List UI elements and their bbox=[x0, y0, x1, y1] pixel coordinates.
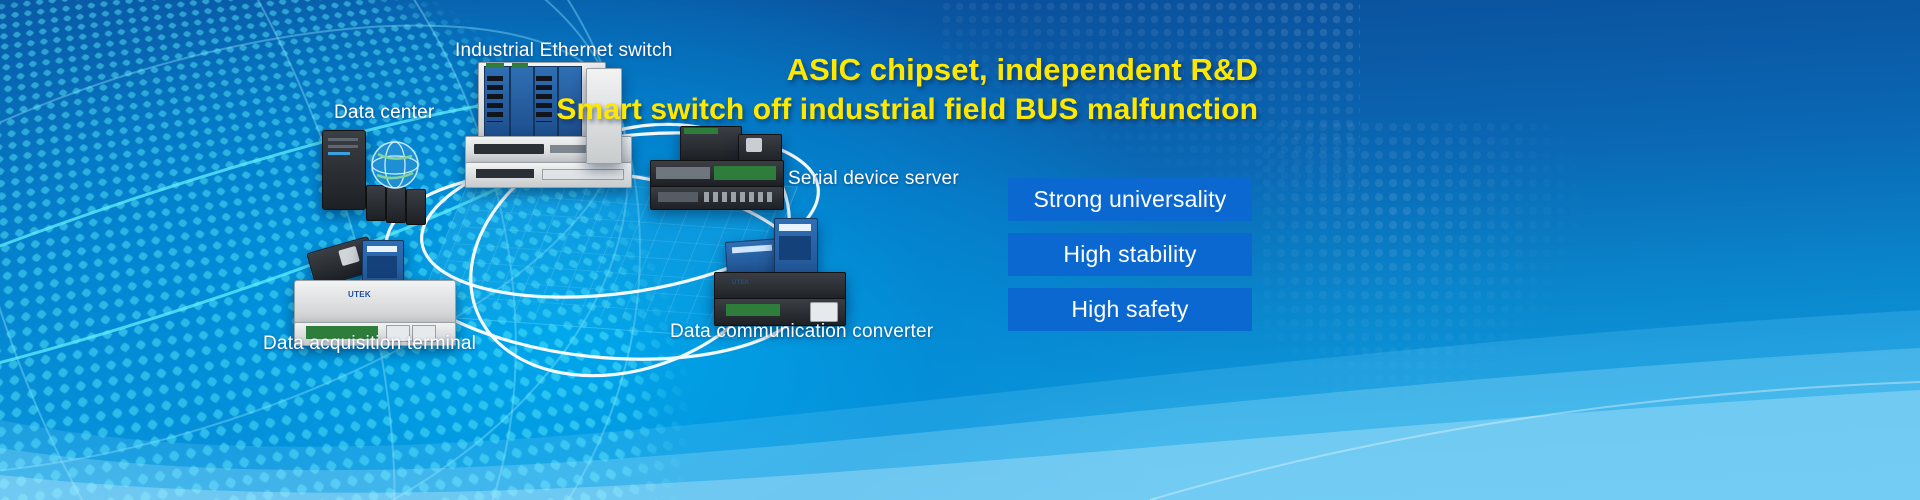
feature-list: Strong universality High stability High … bbox=[1008, 178, 1252, 331]
device-data-center-rack bbox=[322, 130, 364, 208]
feature-strong-universality[interactable]: Strong universality bbox=[1008, 178, 1252, 221]
swoosh-curves bbox=[0, 270, 1920, 500]
label-data-communication-converter: Data communication converter bbox=[670, 321, 933, 343]
headline-line-1: ASIC chipset, independent R&D bbox=[556, 50, 1258, 90]
headline: ASIC chipset, independent R&D Smart swit… bbox=[556, 50, 1258, 130]
label-data-center: Data center bbox=[334, 102, 434, 124]
feature-label: Strong universality bbox=[1034, 186, 1227, 213]
product-banner: UTEK UTEK Industrial Ethernet switch Dat… bbox=[0, 0, 1920, 500]
label-data-acquisition-terminal: Data acquisition terminal bbox=[263, 333, 476, 355]
label-serial-device-server: Serial device server bbox=[788, 168, 959, 190]
feature-label: High stability bbox=[1063, 241, 1196, 268]
headline-line-2: Smart switch off industrial field BUS ma… bbox=[556, 90, 1258, 130]
feature-high-stability[interactable]: High stability bbox=[1008, 233, 1252, 276]
globe-small-icon bbox=[368, 140, 422, 190]
feature-high-safety[interactable]: High safety bbox=[1008, 288, 1252, 331]
feature-label: High safety bbox=[1071, 296, 1188, 323]
